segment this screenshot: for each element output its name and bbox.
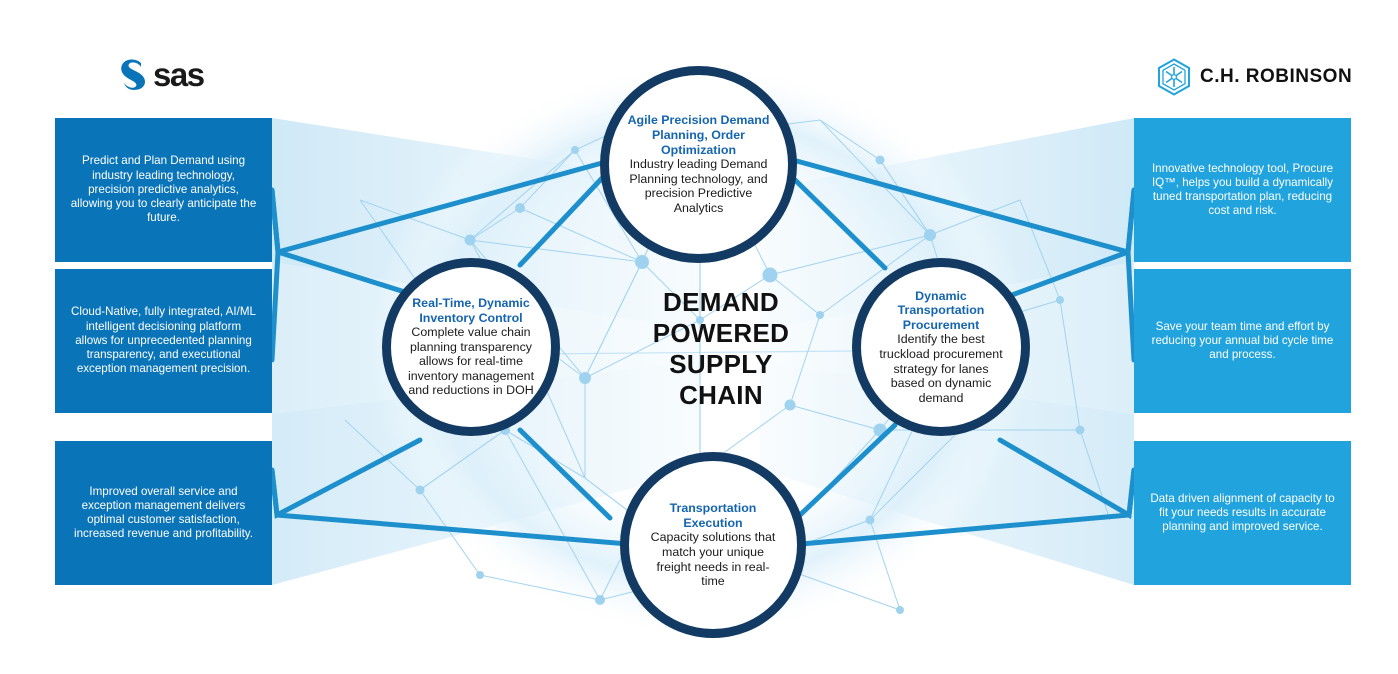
- sas-logo: sas: [118, 56, 204, 92]
- node-title: Real-Time, Dynamic Inventory Control: [407, 296, 535, 325]
- sas-swoosh-icon: [118, 56, 152, 92]
- centre-line-2: POWERED: [629, 318, 813, 349]
- centre-line-1: DEMAND: [629, 287, 813, 318]
- benefit-text: Improved overall service and exception m…: [69, 485, 258, 542]
- benefit-panel-right-1[interactable]: Innovative technology tool, Procure IQ™,…: [1134, 118, 1351, 262]
- node-body: Identify the best truckload procurement …: [877, 332, 1005, 405]
- node-agile-precision-demand-planning[interactable]: Agile Precision Demand Planning, Order O…: [600, 66, 797, 263]
- sas-wordmark: sas: [153, 58, 204, 91]
- ch-robinson-wordmark: C.H. ROBINSON: [1200, 66, 1352, 88]
- benefit-panel-left-2[interactable]: Cloud-Native, fully integrated, AI/ML in…: [55, 269, 272, 413]
- benefit-text: Innovative technology tool, Procure IQ™,…: [1148, 162, 1337, 219]
- benefit-panel-right-2[interactable]: Save your team time and effort by reduci…: [1134, 269, 1351, 413]
- node-body: Capacity solutions that match your uniqu…: [645, 530, 781, 588]
- ch-robinson-logo: C.H. ROBINSON: [1157, 58, 1352, 96]
- node-real-time-dynamic-inventory-control[interactable]: Real-Time, Dynamic Inventory Control Com…: [382, 258, 560, 436]
- node-body: Industry leading Demand Planning technol…: [625, 157, 772, 215]
- node-dynamic-transportation-procurement[interactable]: Dynamic Transportation Procurement Ident…: [852, 258, 1030, 436]
- centre-line-3: SUPPLY: [629, 349, 813, 380]
- benefit-text: Predict and Plan Demand using industry l…: [69, 154, 258, 225]
- benefit-panel-left-1[interactable]: Predict and Plan Demand using industry l…: [55, 118, 272, 262]
- infographic-canvas: sas C.H. ROBINSON Predict and Plan Deman…: [0, 0, 1398, 674]
- node-transportation-execution[interactable]: Transportation Execution Capacity soluti…: [620, 452, 806, 638]
- benefit-text: Cloud-Native, fully integrated, AI/ML in…: [69, 305, 258, 376]
- benefit-text: Save your team time and effort by reduci…: [1148, 320, 1337, 363]
- benefit-text: Data driven alignment of capacity to fit…: [1148, 492, 1337, 535]
- benefit-panel-right-3[interactable]: Data driven alignment of capacity to fit…: [1134, 441, 1351, 585]
- node-body: Complete value chain planning transparen…: [407, 325, 535, 398]
- hexagon-icon: [1157, 58, 1191, 96]
- node-title: Agile Precision Demand Planning, Order O…: [625, 113, 772, 157]
- node-title: Dynamic Transportation Procurement: [877, 289, 1005, 333]
- node-title: Transportation Execution: [645, 501, 781, 530]
- benefit-panel-left-3[interactable]: Improved overall service and exception m…: [55, 441, 272, 585]
- centre-line-4: CHAIN: [629, 380, 813, 411]
- centre-title: DEMAND POWERED SUPPLY CHAIN: [629, 287, 813, 411]
